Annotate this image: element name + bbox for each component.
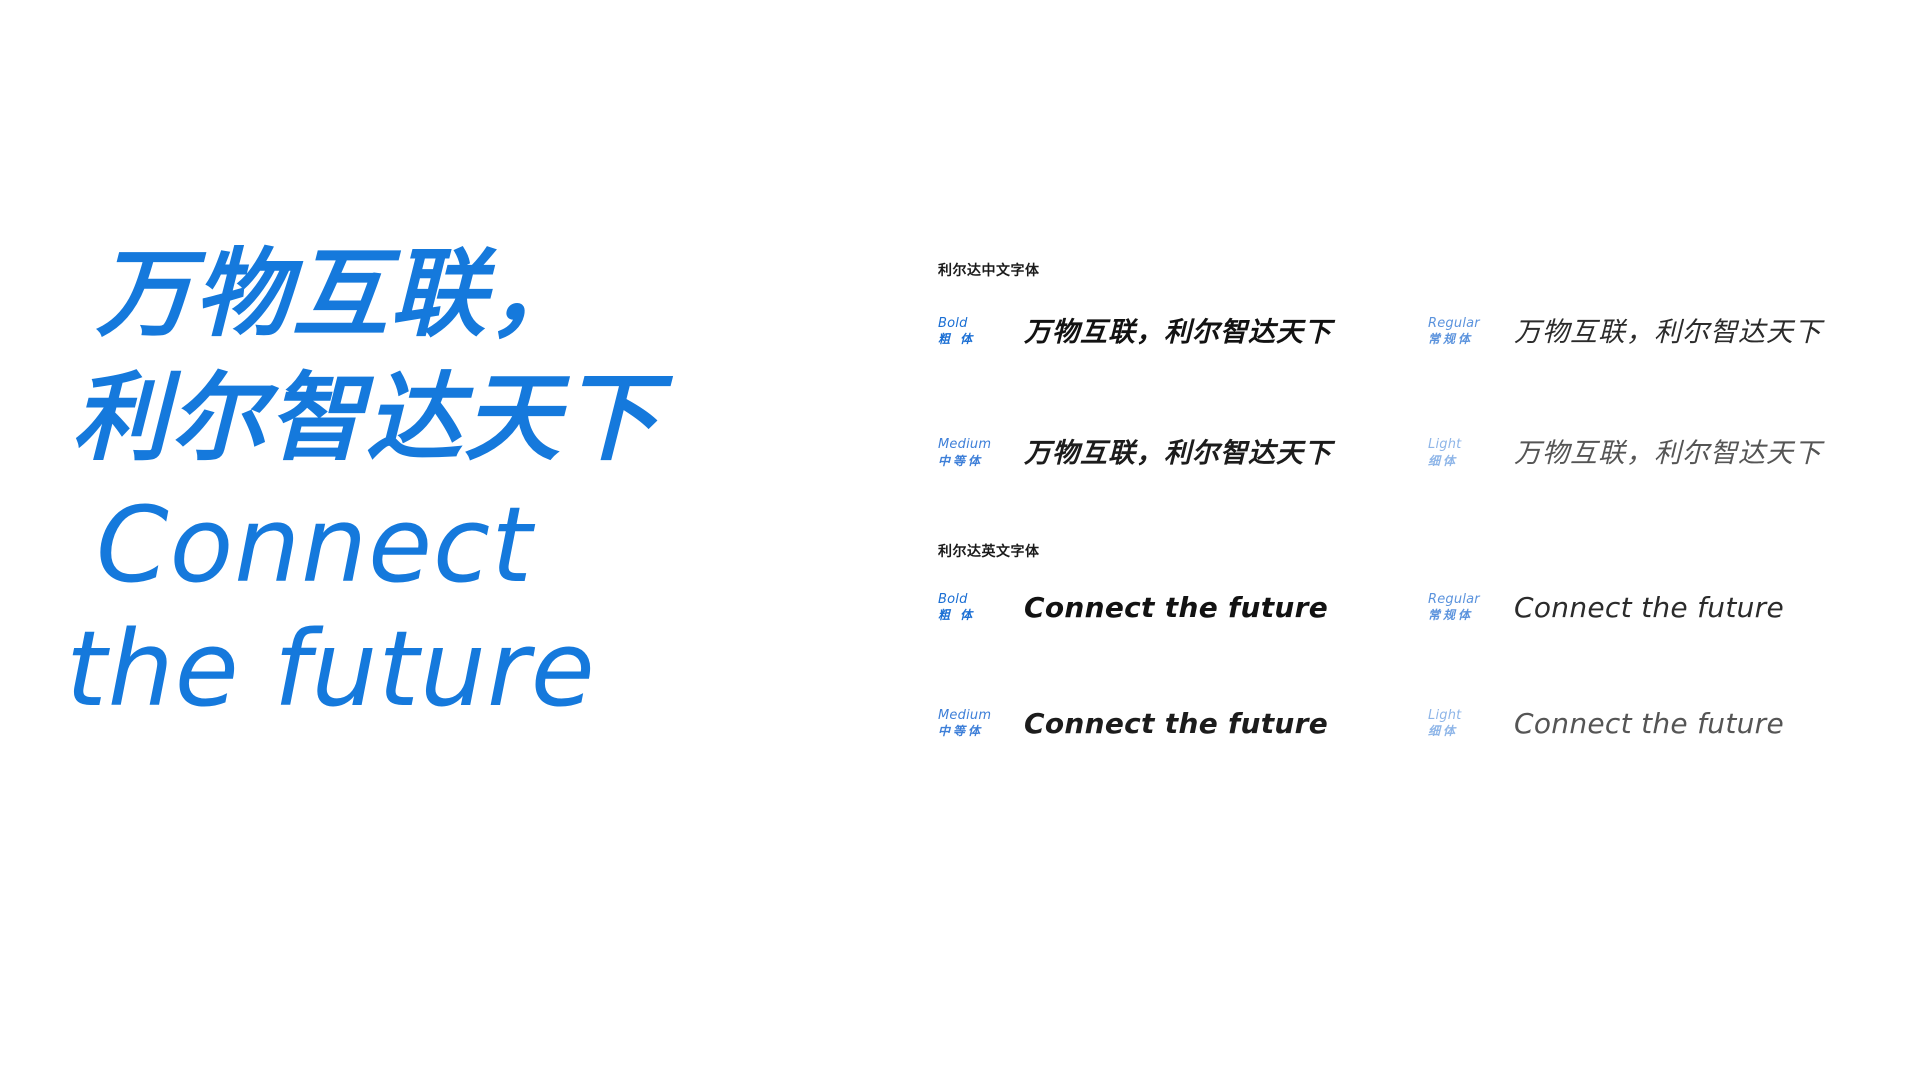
specimen-row: Bold 粗 体 Connect the future Regular 常规体 …	[938, 591, 1878, 637]
section-heading-chinese: 利尔达中文字体	[938, 262, 1878, 280]
specimen-sample-text: 万物互联，利尔智达天下	[1024, 431, 1332, 470]
weight-label-light: Light 细体	[1428, 437, 1490, 468]
weight-label-cjk: 常规体	[1428, 332, 1490, 347]
specimen-cell-medium: Medium 中等体 Connect the future	[938, 707, 1428, 753]
weight-label-latin: Light	[1428, 708, 1490, 724]
weight-label-latin: Light	[1428, 437, 1490, 453]
weight-label-medium: Medium 中等体	[938, 708, 1000, 739]
weight-label-latin: Bold	[938, 316, 1000, 332]
specimen-cell-bold: Bold 粗 体 Connect the future	[938, 591, 1428, 637]
hero-lockup: 万物互联， 利尔智达天下 Connect the future	[96, 232, 876, 728]
specimen-sample-text: Connect the future	[1024, 591, 1328, 624]
specimen-cell-light: Light 细体 Connect the future	[1428, 707, 1878, 753]
hero-english-line-2: the future	[66, 610, 876, 728]
specimen-sample-text: 万物互联，利尔智达天下	[1514, 431, 1822, 470]
specimen-sample-text: Connect the future	[1024, 707, 1328, 740]
weight-label-cjk: 细体	[1428, 454, 1490, 469]
weight-label-light: Light 细体	[1428, 708, 1490, 739]
weight-label-latin: Regular	[1428, 316, 1490, 332]
section-heading-english: 利尔达英文字体	[938, 543, 1878, 561]
brand-typography-specimen-page: 万物互联， 利尔智达天下 Connect the future 利尔达中文字体 …	[0, 0, 1920, 1080]
specimen-cell-bold: Bold 粗 体 万物互联，利尔智达天下	[938, 310, 1428, 361]
hero-english-line-1: Connect	[96, 486, 876, 604]
weight-label-cjk: 中等体	[938, 724, 1000, 739]
weight-label-bold: Bold 粗 体	[938, 592, 1000, 623]
specimen-section-english: 利尔达英文字体 Bold 粗 体 Connect the future Regu…	[938, 543, 1878, 754]
weight-label-latin: Medium	[938, 708, 1000, 724]
weight-label-regular: Regular 常规体	[1428, 592, 1490, 623]
specimen-panel: 利尔达中文字体 Bold 粗 体 万物互联，利尔智达天下 Regular 常规体	[938, 262, 1878, 753]
weight-label-medium: Medium 中等体	[938, 437, 1000, 468]
specimen-section-chinese: 利尔达中文字体 Bold 粗 体 万物互联，利尔智达天下 Regular 常规体	[938, 262, 1878, 483]
specimen-row: Medium 中等体 万物互联，利尔智达天下 Light 细体 万物互联，利尔智…	[938, 431, 1878, 482]
specimen-rows-english: Bold 粗 体 Connect the future Regular 常规体 …	[938, 591, 1878, 754]
specimen-sample-text: 万物互联，利尔智达天下	[1514, 310, 1822, 349]
weight-label-latin: Bold	[938, 592, 1000, 608]
hero-chinese-line-2: 利尔智达天下	[72, 356, 876, 480]
weight-label-latin: Medium	[938, 437, 1000, 453]
weight-label-cjk: 粗 体	[938, 332, 1000, 347]
specimen-cell-regular: Regular 常规体 万物互联，利尔智达天下	[1428, 310, 1878, 361]
weight-label-latin: Regular	[1428, 592, 1490, 608]
specimen-rows-chinese: Bold 粗 体 万物互联，利尔智达天下 Regular 常规体 万物互联，利尔…	[938, 310, 1878, 483]
specimen-sample-text: Connect the future	[1514, 591, 1784, 624]
weight-label-bold: Bold 粗 体	[938, 316, 1000, 347]
specimen-row: Bold 粗 体 万物互联，利尔智达天下 Regular 常规体 万物互联，利尔…	[938, 310, 1878, 361]
specimen-row: Medium 中等体 Connect the future Light 细体 C…	[938, 707, 1878, 753]
weight-label-cjk: 常规体	[1428, 608, 1490, 623]
weight-label-cjk: 细体	[1428, 724, 1490, 739]
specimen-sample-text: 万物互联，利尔智达天下	[1024, 310, 1332, 349]
specimen-cell-medium: Medium 中等体 万物互联，利尔智达天下	[938, 431, 1428, 482]
hero-chinese-line-1: 万物互联，	[96, 232, 876, 356]
specimen-sample-text: Connect the future	[1514, 707, 1784, 740]
weight-label-cjk: 中等体	[938, 454, 1000, 469]
specimen-cell-light: Light 细体 万物互联，利尔智达天下	[1428, 431, 1878, 482]
specimen-cell-regular: Regular 常规体 Connect the future	[1428, 591, 1878, 637]
weight-label-cjk: 粗 体	[938, 608, 1000, 623]
weight-label-regular: Regular 常规体	[1428, 316, 1490, 347]
